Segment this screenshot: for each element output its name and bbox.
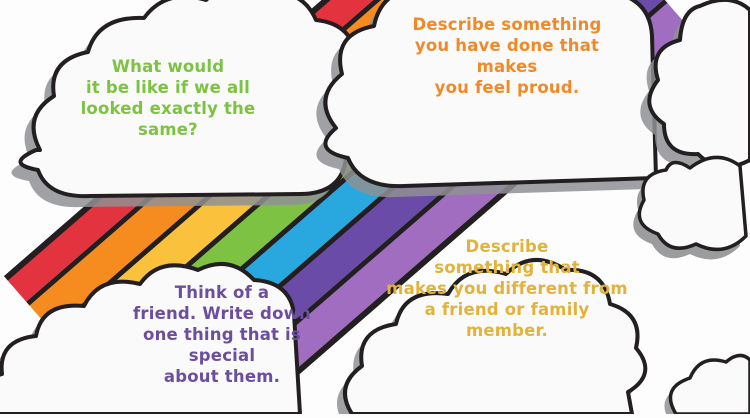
cloud-top-center: [316, 0, 656, 197]
rainbow-cloud-illustration: What would it be like if we all looked e…: [0, 0, 750, 414]
illustration-svg: [0, 0, 750, 414]
cloud-top-center-body: [325, 0, 656, 186]
